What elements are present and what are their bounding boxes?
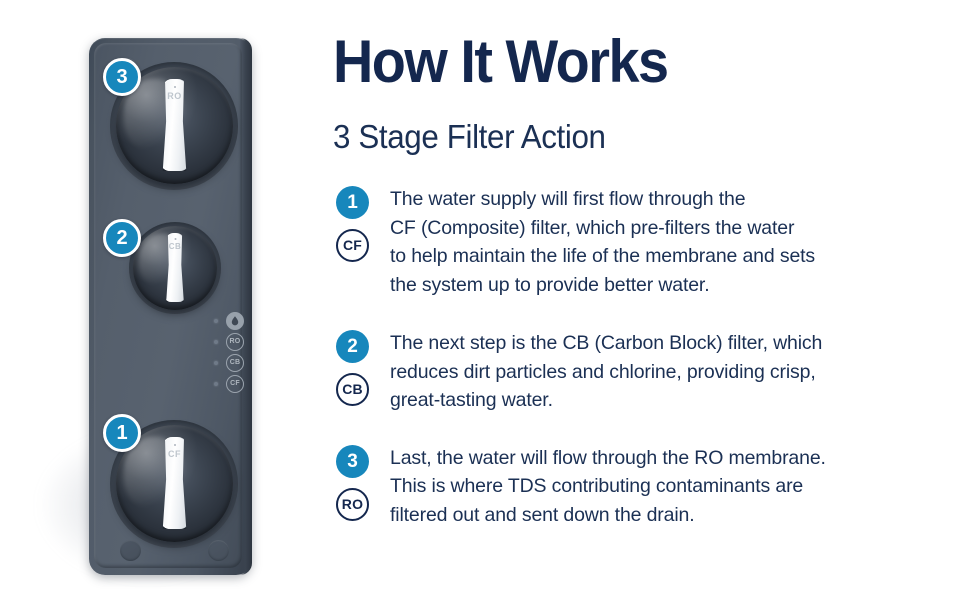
cf-knob-handle[interactable]: CF	[161, 437, 189, 529]
indicator-led-ro	[214, 340, 218, 344]
cf-handle-label: CF	[161, 449, 189, 459]
step-3-markers: 3 RO	[330, 442, 390, 521]
indicator-led-cb	[214, 361, 218, 365]
indicator-row-water	[214, 311, 260, 332]
indicator-label-cf: CF	[226, 375, 244, 393]
page-subtitle: 3 Stage Filter Action	[333, 118, 606, 156]
cb-handle-dot	[174, 238, 176, 240]
cf-handle-dot	[174, 444, 176, 446]
indicator-row-cb: CB	[214, 353, 260, 374]
device-badge-3: 3	[103, 58, 141, 96]
device-badge-1: 1	[103, 414, 141, 452]
step-2-code-badge-cb: CB	[336, 373, 369, 406]
step-1-markers: 1 CF	[330, 183, 390, 262]
ro-handle-label: RO	[161, 91, 189, 101]
ro-knob-handle[interactable]: RO	[161, 79, 189, 171]
step-2-markers: 2 CB	[330, 327, 390, 406]
step-item-1: 1 CF The water supply will first flow th…	[330, 183, 970, 299]
steps-list: 1 CF The water supply will first flow th…	[330, 183, 970, 529]
step-1-description: The water supply will first flow through…	[390, 183, 970, 299]
step-1-number-badge: 1	[336, 186, 369, 219]
step-3-number-badge: 3	[336, 445, 369, 478]
filter-panel-right-edge	[240, 38, 252, 575]
indicator-row-cf: CF	[214, 374, 260, 395]
page-title: How It Works	[333, 31, 668, 93]
step-2-description: The next step is the CB (Carbon Block) f…	[390, 327, 970, 415]
device-badge-2: 2	[103, 219, 141, 257]
panel-foot-right	[208, 540, 229, 561]
indicator-led-cf	[214, 382, 218, 386]
step-3-description: Last, the water will flow through the RO…	[390, 442, 970, 530]
panel-foot-left	[120, 540, 141, 561]
cb-knob-handle[interactable]: CB	[165, 233, 186, 302]
how-it-works-infographic: RO 3 CB 2 RO	[0, 0, 970, 600]
indicator-label-cb: CB	[226, 354, 244, 372]
filter-device-illustration: RO 3 CB 2 RO	[0, 0, 320, 600]
indicator-label-ro: RO	[226, 333, 244, 351]
cb-handle-label: CB	[165, 242, 186, 251]
water-drop-icon	[226, 312, 244, 330]
cb-filter-knob[interactable]: CB	[133, 226, 217, 310]
step-1-code-badge-cf: CF	[336, 229, 369, 262]
step-item-2: 2 CB The next step is the CB (Carbon Blo…	[330, 327, 970, 415]
step-item-3: 3 RO Last, the water will flow through t…	[330, 442, 970, 530]
step-2-number-badge: 2	[336, 330, 369, 363]
indicator-led-water	[214, 319, 218, 323]
ro-handle-dot	[174, 86, 176, 88]
status-indicator-strip: RO CB CF	[214, 311, 260, 395]
content-column: How It Works 3 Stage Filter Action 1 CF …	[330, 0, 970, 600]
step-3-code-badge-ro: RO	[336, 488, 369, 521]
indicator-row-ro: RO	[214, 332, 260, 353]
